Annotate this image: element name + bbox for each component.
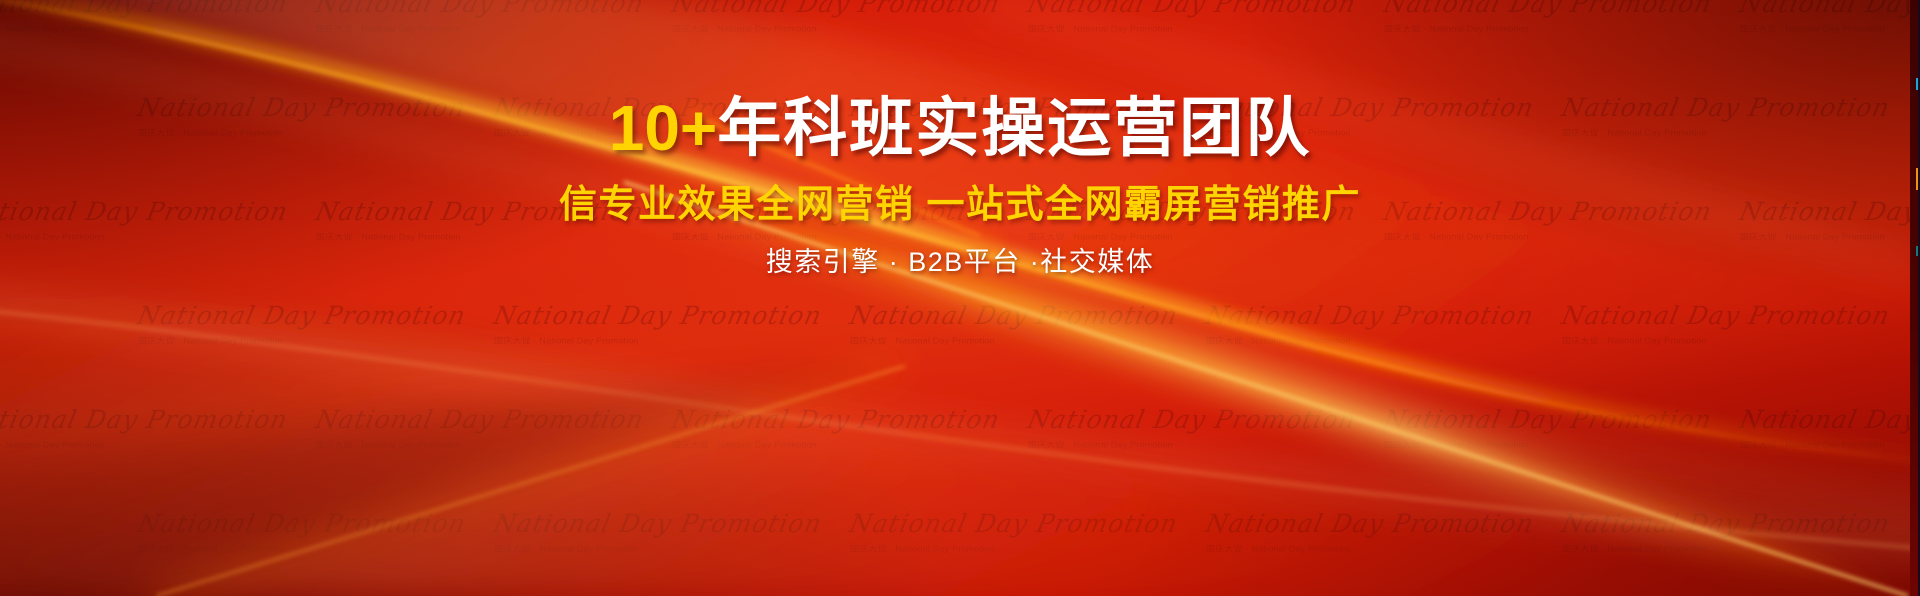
promo-banner: National Day Promotion 国庆大促 · National D… (0, 0, 1920, 596)
headline-chinese: 年科班实操运营团队 (717, 92, 1311, 164)
background-warm-overlay (0, 0, 1920, 596)
banner-content: 10+年科班实操运营团队 信专业效果全网营销 一站式全网霸屏营销推广 搜索引擎 … (0, 96, 1920, 277)
tagline-text: 搜索引擎 · B2B平台 ·社交媒体 (0, 248, 1920, 278)
headline-number: 10+ (609, 92, 718, 164)
page-title: 10+年科班实操运营团队 (0, 96, 1920, 160)
subtitle-text: 信专业效果全网营销 一站式全网霸屏营销推广 (0, 185, 1920, 227)
